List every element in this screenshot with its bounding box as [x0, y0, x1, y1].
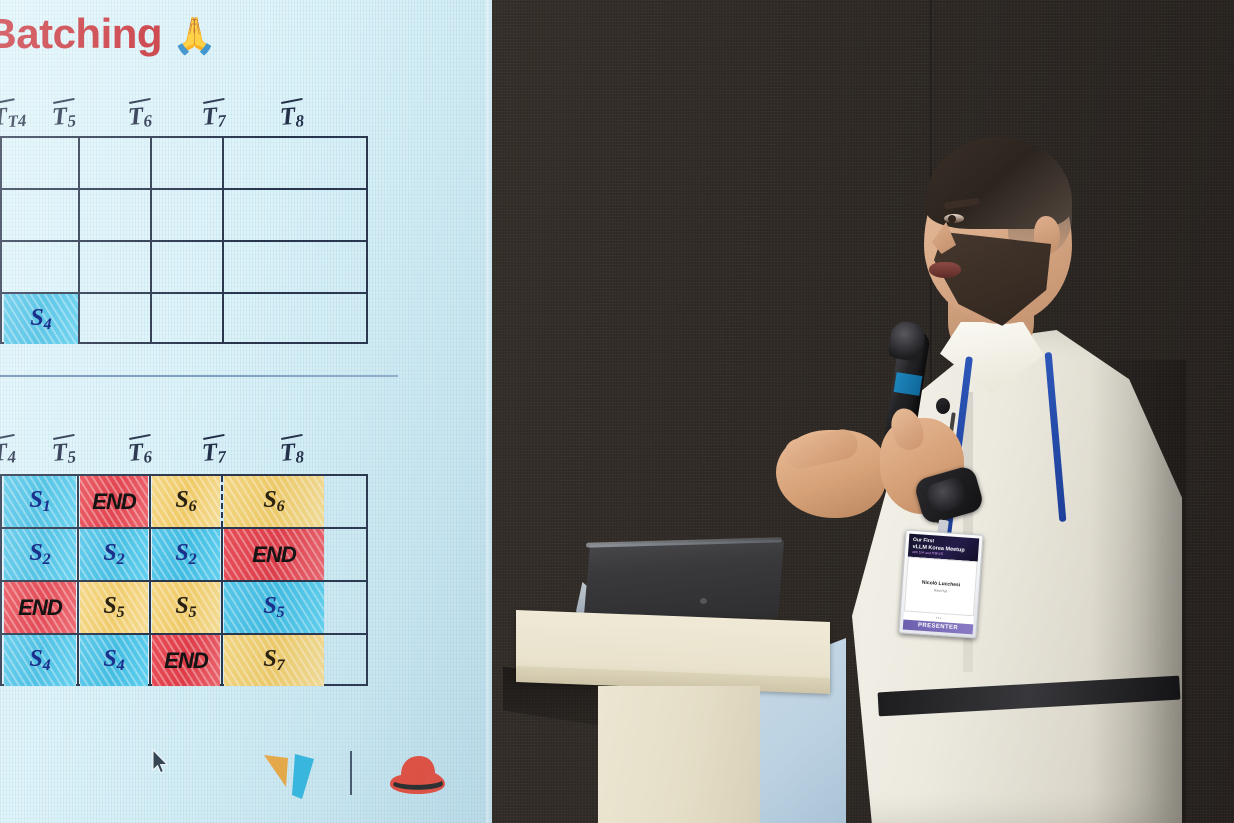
presenter-badge: Our First vLLM Korea Meetup with 친구 and … [898, 529, 983, 638]
badge-attendee-name: Nicolò Lucchesi [922, 579, 961, 588]
grid-top-col-label-t5: T5 [51, 102, 77, 133]
vllm-logo [262, 751, 324, 801]
diagram-grid-top: TT4 T5 T6 T7 T8 S1 S3 S4 S4 [0, 96, 380, 356]
microphone-accent-band [894, 372, 923, 396]
grid-bottom-cell-t5-r2: S2 [4, 529, 76, 580]
badge-name-area: Nicolò Lucchesi Red Hat [904, 557, 978, 616]
grid-bottom-cell-t7-r3: S5 [152, 582, 220, 633]
grid-bottom-table: S1 S2 S3 S4 S1 END S6 S6 S2 S2 S2 END EN… [0, 474, 368, 686]
grid-top-col-label-t8: T8 [279, 102, 305, 133]
speaker-pupil [948, 215, 956, 223]
slide-title-text: ative Batching [0, 10, 162, 57]
podium-body [598, 686, 760, 823]
grid-bottom-cell-t5-r3: END [4, 582, 76, 633]
grid-bottom-cell-t8-r1: S6 [224, 476, 324, 527]
grid-bottom-cell-t6-r3: S5 [80, 582, 148, 633]
grid-bottom-cell-t8-r3: S5 [224, 582, 324, 633]
laptop-lid [584, 540, 784, 618]
grid-top-col-label-t6: T6 [127, 102, 153, 133]
speaker-mouth [929, 262, 961, 278]
slide-divider-line [0, 375, 398, 377]
grid-top-cell-t5-r4: S4 [4, 294, 78, 344]
slide-title: ative Batching🙏 [0, 10, 217, 58]
badge-attendee-org: Red Hat [934, 588, 947, 593]
laptop-logo [700, 598, 707, 604]
grid-bottom-cell-t6-r4: S4 [80, 635, 148, 686]
grid-top-column-labels: TT4 T5 T6 T7 T8 [0, 96, 380, 132]
slide-footer [0, 745, 492, 805]
mouse-pointer-arrow-icon [152, 749, 170, 780]
grid-bottom-cell-t7-r4: END [152, 635, 220, 686]
grid-bottom-col-label-t8: T8 [279, 438, 305, 469]
badge-sponsor-mark: ▪ ▪ ▪ [936, 616, 941, 620]
grid-bottom-cell-t6-r2: S2 [80, 529, 148, 580]
grid-bottom-cell-t5-r1: S1 [4, 476, 76, 527]
praying-hands-emoji: 🙏 [172, 15, 217, 56]
grid-bottom-cell-t7-r2: S2 [152, 529, 220, 580]
diagram-grid-bottom: T4 T5 T6 T7 T8 S1 S2 S3 S4 S1 END S6 S6 … [0, 432, 380, 702]
screenshot-scene: ative Batching🙏 TT4 T5 T6 T7 T8 S1 S3 S4… [0, 0, 1234, 823]
grid-bottom-col-label-t6: T6 [127, 438, 153, 469]
logo-divider [350, 751, 352, 795]
speaker-shirt-shading [1090, 360, 1186, 823]
grid-top-table: S1 S3 S4 S4 [0, 136, 368, 344]
grid-bottom-col-label-t4: T4 [0, 438, 17, 469]
grid-top-col-label-t4: TT4 [0, 102, 27, 133]
grid-bottom-cell-t8-r2: END [224, 529, 324, 580]
grid-bottom-col-label-t7: T7 [201, 438, 227, 469]
grid-bottom-col-label-t5: T5 [51, 438, 77, 469]
red-hat-logo [385, 749, 451, 799]
grid-top-col-label-t7: T7 [201, 102, 227, 133]
projection-screen: ative Batching🙏 TT4 T5 T6 T7 T8 S1 S3 S4… [0, 0, 492, 823]
grid-bottom-cell-t5-r4: S4 [4, 635, 76, 686]
grid-bottom-cell-t8-r4: S7 [224, 635, 324, 686]
grid-bottom-column-labels: T4 T5 T6 T7 T8 [0, 432, 380, 468]
grid-bottom-cell-t6-r1: END [80, 476, 148, 527]
lapel-mic-icon [936, 398, 950, 414]
grid-bottom-cell-t7-r1: S6 [152, 476, 220, 527]
screen-right-edge [486, 0, 492, 823]
